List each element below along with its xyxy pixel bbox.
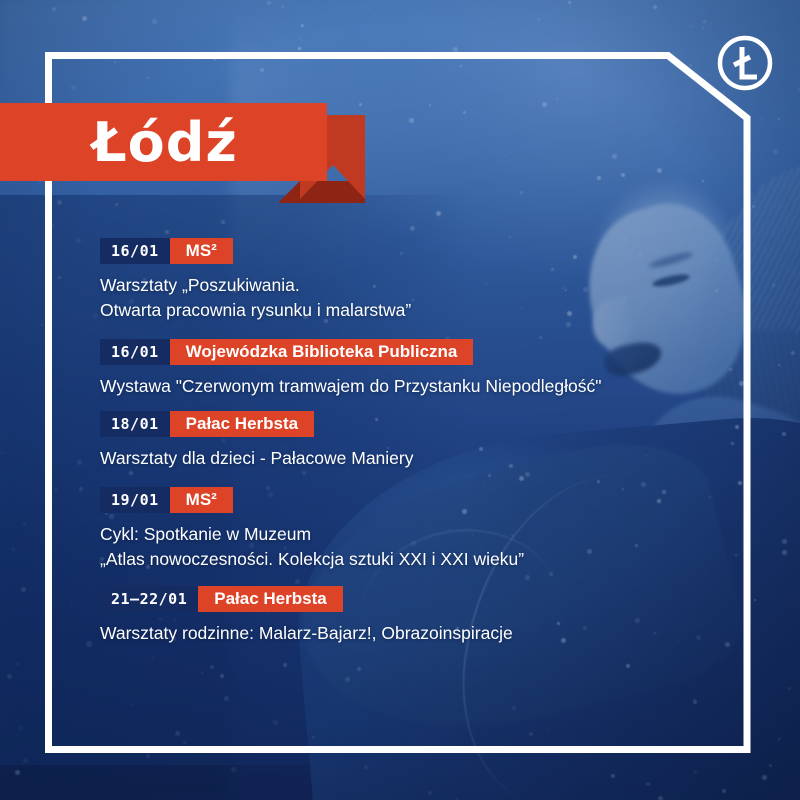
event-description-line: Otwarta pracownia rysunku i malarstwa” <box>100 298 740 323</box>
event-description: Warsztaty dla dzieci - Pałacowe Maniery <box>100 446 740 471</box>
event-venue-badge: Wojewódzka Biblioteka Publiczna <box>170 339 474 365</box>
event-venue-badge: MS² <box>170 238 233 264</box>
city-name-title: Łódź <box>92 113 238 173</box>
event-item[interactable]: 16/01 MS² Warsztaty „Poszukiwania. Otwar… <box>100 238 740 323</box>
event-description-line: Cykl: Spotkanie w Muzeum <box>100 522 740 547</box>
event-date-badge: 19/01 <box>100 487 170 513</box>
event-item[interactable]: 18/01 Pałac Herbsta Warsztaty dla dzieci… <box>100 411 740 471</box>
event-description-line: Warsztaty „Poszukiwania. <box>100 273 740 298</box>
event-venue-badge: MS² <box>170 487 233 513</box>
event-description: Warsztaty rodzinne: Malarz-Bajarz!, Obra… <box>100 621 740 646</box>
event-date-badge: 16/01 <box>100 339 170 365</box>
event-description: Warsztaty „Poszukiwania. Otwarta pracown… <box>100 273 740 323</box>
event-venue-badge: Pałac Herbsta <box>170 411 314 437</box>
event-description: Cykl: Spotkanie w Muzeum „Atlas nowoczes… <box>100 522 740 572</box>
event-venue-badge: Pałac Herbsta <box>198 586 342 612</box>
event-description-line: „Atlas nowoczesności. Kolekcja sztuki XX… <box>100 547 740 572</box>
event-badges: 19/01 MS² <box>100 487 740 513</box>
event-description-line: Warsztaty dla dzieci - Pałacowe Maniery <box>100 446 740 471</box>
event-badges: 16/01 Wojewódzka Biblioteka Publiczna <box>100 339 740 365</box>
logo-circle <box>720 38 770 88</box>
lodz-city-logo-icon <box>716 34 774 92</box>
event-badges: 16/01 MS² <box>100 238 740 264</box>
event-badges: 18/01 Pałac Herbsta <box>100 411 740 437</box>
event-description-line: Warsztaty rodzinne: Malarz-Bajarz!, Obra… <box>100 621 740 646</box>
event-badges: 21–22/01 Pałac Herbsta <box>100 586 740 612</box>
event-description-line: Wystawa "Czerwonym tramwajem do Przystan… <box>100 374 740 399</box>
event-item[interactable]: 16/01 Wojewódzka Biblioteka Publiczna Wy… <box>100 339 740 399</box>
event-item[interactable]: 21–22/01 Pałac Herbsta Warsztaty rodzinn… <box>100 586 740 646</box>
event-date-badge: 16/01 <box>100 238 170 264</box>
event-date-badge: 18/01 <box>100 411 170 437</box>
event-date-badge: 21–22/01 <box>100 586 198 612</box>
event-poster: Łódź 16/01 MS² Warsztaty „Poszukiwania. … <box>0 0 800 800</box>
event-description: Wystawa "Czerwonym tramwajem do Przystan… <box>100 374 740 399</box>
event-item[interactable]: 19/01 MS² Cykl: Spotkanie w Muzeum „Atla… <box>100 487 740 572</box>
event-list: 16/01 MS² Warsztaty „Poszukiwania. Otwar… <box>100 238 740 660</box>
